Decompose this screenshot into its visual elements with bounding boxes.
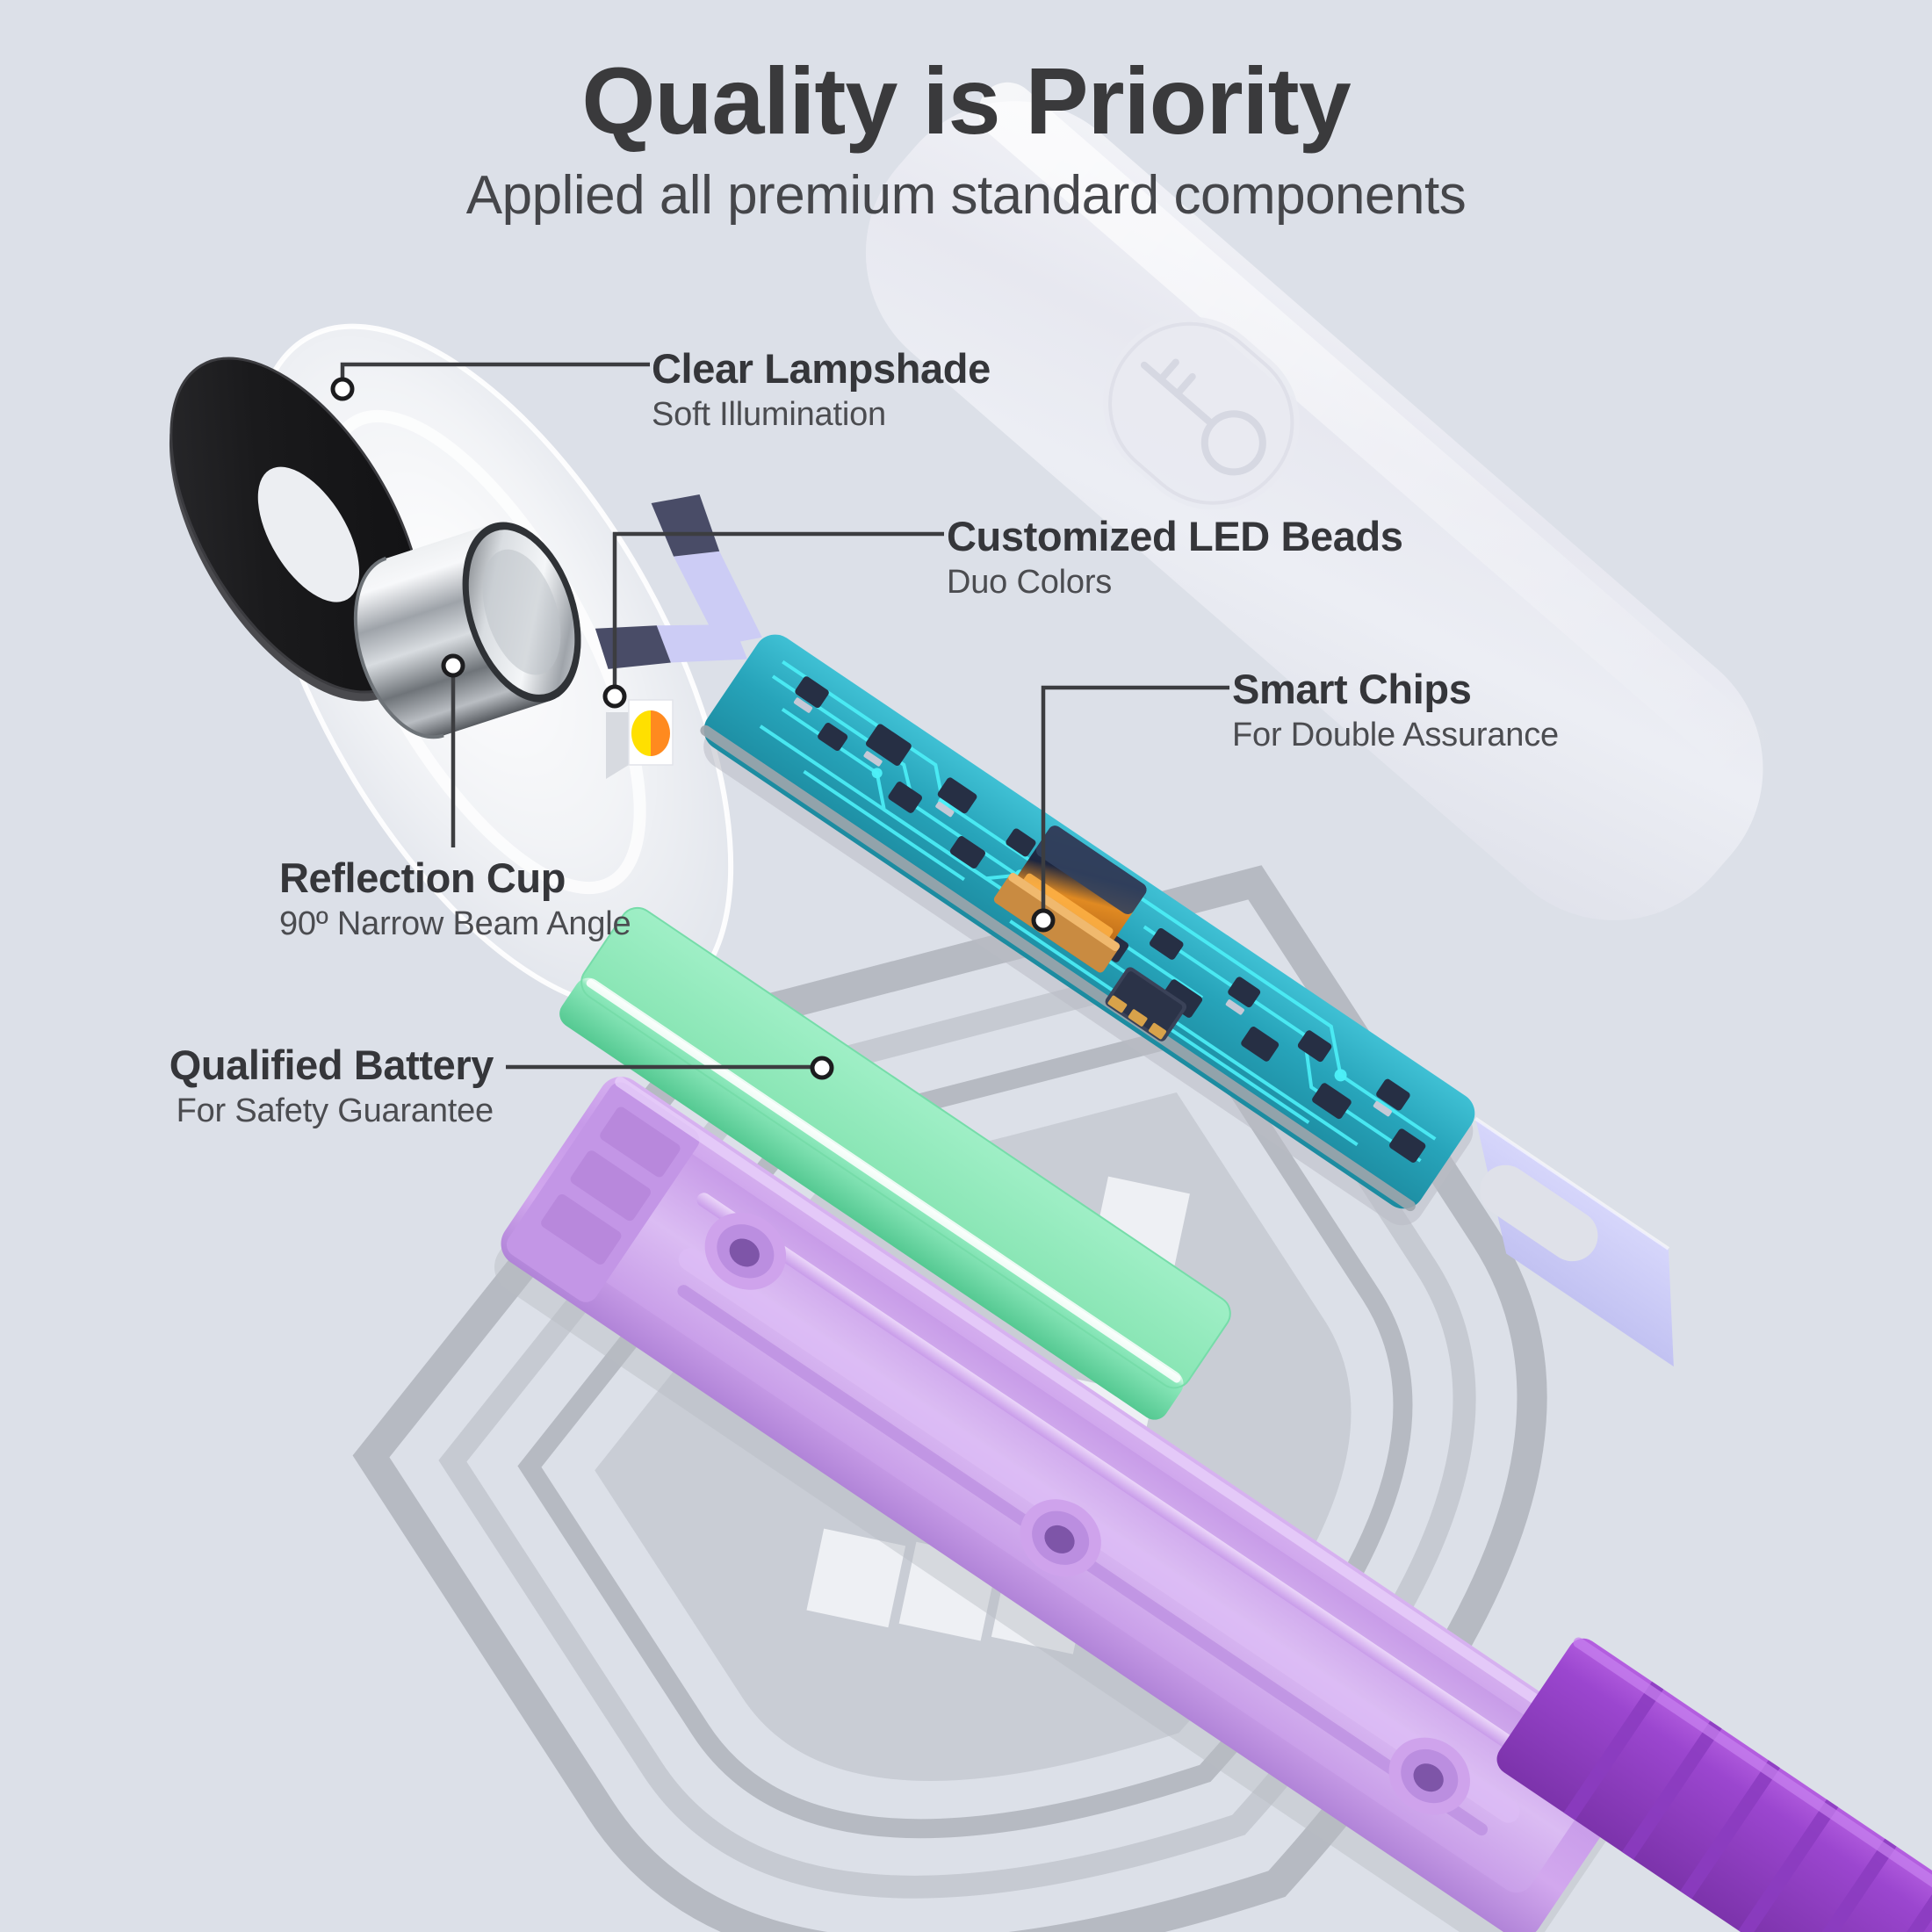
callout-subtitle: Duo Colors	[947, 564, 1403, 602]
callout-subtitle: For Safety Guarantee	[0, 1092, 494, 1130]
callout-title: Smart Chips	[1232, 667, 1559, 710]
page-title: Quality is Priority	[0, 51, 1932, 150]
callout-subtitle: Soft Illumination	[652, 396, 991, 434]
callout-title: Customized LED Beads	[947, 515, 1403, 558]
callout-title: Clear Lampshade	[652, 347, 991, 390]
callout-title: Reflection Cup	[279, 856, 631, 899]
grip-part	[0, 0, 1932, 1932]
callout-reflection-cup: Reflection Cup 90º Narrow Beam Angle	[279, 856, 631, 943]
callout-clear-lampshade: Clear Lampshade Soft Illumination	[652, 347, 991, 434]
callout-smart-chips: Smart Chips For Double Assurance	[1232, 667, 1559, 754]
callout-subtitle: 90º Narrow Beam Angle	[279, 905, 631, 943]
infographic-canvas: Quality is Priority Applied all premium …	[0, 0, 1932, 1932]
callout-title: Qualified Battery	[0, 1043, 494, 1086]
callout-subtitle: For Double Assurance	[1232, 717, 1559, 754]
page-subtitle: Applied all premium standard components	[0, 166, 1932, 226]
callout-qualified-battery: Qualified Battery For Safety Guarantee	[0, 1043, 494, 1130]
header: Quality is Priority Applied all premium …	[0, 0, 1932, 227]
callout-customized-led-beads: Customized LED Beads Duo Colors	[947, 515, 1403, 602]
